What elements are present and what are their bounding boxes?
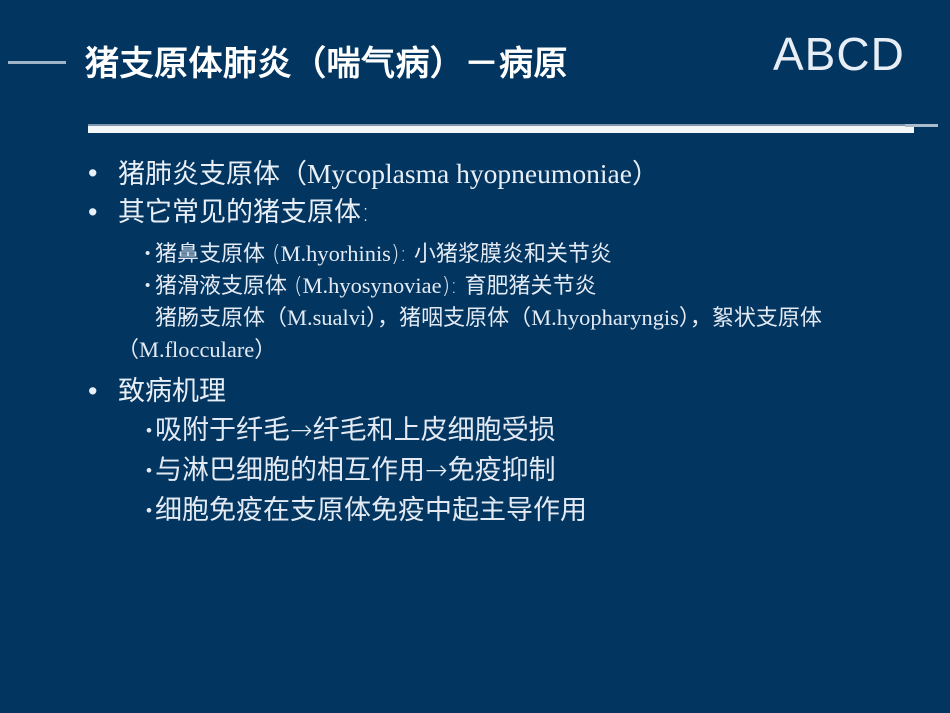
- bullet-marker: •: [88, 373, 97, 411]
- bullet-marker: •: [88, 194, 97, 232]
- list-item-text-latin: M.sualvi: [287, 305, 366, 330]
- bullet-marker: •: [146, 491, 152, 531]
- list-item-text-cjk: 细胞免疫在支原体免疫中起主导作用: [155, 495, 587, 526]
- list-item-text-latin-3: M.flocculare: [139, 337, 254, 362]
- header-divider-bar: [88, 126, 914, 133]
- list-item-text-cjk: 致病机理: [118, 376, 226, 407]
- list-item: • 猪鼻支原体 (M.hyorhinis): 小猪浆膜炎和关节炎: [0, 238, 950, 270]
- list-item-text-cjk: 其它常见的猪支原体:: [118, 197, 370, 228]
- title-dash-decoration: [8, 61, 66, 64]
- bullet-marker: •: [145, 302, 188, 333]
- list-item-text-latin: M.hyosynoviae: [303, 273, 442, 298]
- list-item-text-latin: Mycoplasma hyopneumoniae: [307, 158, 632, 189]
- bullet-marker: •: [146, 451, 152, 491]
- list-item: • 致病机理: [0, 373, 950, 411]
- list-item: • 猪滑液支原体 (M.hyosynoviae): 育肥猪关节炎: [0, 270, 950, 302]
- list-item: • 细胞免疫在支原体免疫中起主导作用: [0, 491, 950, 531]
- list-item-text-cjk: 猪滑液支原体 (: [155, 274, 303, 299]
- list-item-text-latin: M.hyorhinis: [281, 241, 391, 266]
- list-item-text-cjk: 与淋巴细胞的相互作用→免疫抑制: [155, 455, 556, 486]
- list-item: • 其它常见的猪支原体:: [0, 194, 950, 232]
- list-item: • 吸附于纤毛→纤毛和上皮细胞受损: [0, 411, 950, 451]
- list-item: • 与淋巴细胞的相互作用→免疫抑制: [0, 451, 950, 491]
- brand-logo: ABCD: [773, 28, 905, 80]
- list-item-text-cjk: 猪鼻支原体 (: [155, 242, 281, 267]
- list-item: • 猪肠支原体（M.sualvi），猪咽支原体（M.hyopharyngis），…: [0, 302, 950, 366]
- header-divider: [88, 124, 914, 134]
- list-item: • 猪肺炎支原体（Mycoplasma hyopneumoniae）: [0, 155, 950, 194]
- bullet-marker: •: [88, 155, 97, 193]
- list-item-text-cjk: 猪肺炎支原体（: [118, 159, 307, 190]
- list-item-text-cjk-tail: ): 小猪浆膜炎和关节炎: [391, 242, 612, 267]
- page-title: 猪支原体肺炎（喘气病）－病原: [85, 42, 568, 86]
- list-item-text-latin-2: M.hyopharyngis: [531, 305, 679, 330]
- list-item-text-cjk-tail: ）: [632, 159, 659, 190]
- list-item-text-cjk: 吸附于纤毛→纤毛和上皮细胞受损: [155, 415, 556, 446]
- header-divider-extension: [905, 124, 938, 127]
- bullet-marker: •: [146, 411, 152, 451]
- spacer: [0, 366, 950, 373]
- list-item-text-cjk-tail: ): 育肥猪关节炎: [442, 274, 597, 299]
- bullet-marker: •: [145, 238, 150, 269]
- slide-body: • 猪肺炎支原体（Mycoplasma hyopneumoniae） • 其它常…: [0, 155, 950, 531]
- slide: 猪支原体肺炎（喘气病）－病原 ABCD • 猪肺炎支原体（Mycoplasma …: [0, 0, 950, 713]
- bullet-marker: •: [145, 270, 150, 301]
- list-item-text-cjk-4: ）: [254, 338, 276, 363]
- list-item-text-cjk-2: ），猪咽支原体（: [366, 306, 531, 331]
